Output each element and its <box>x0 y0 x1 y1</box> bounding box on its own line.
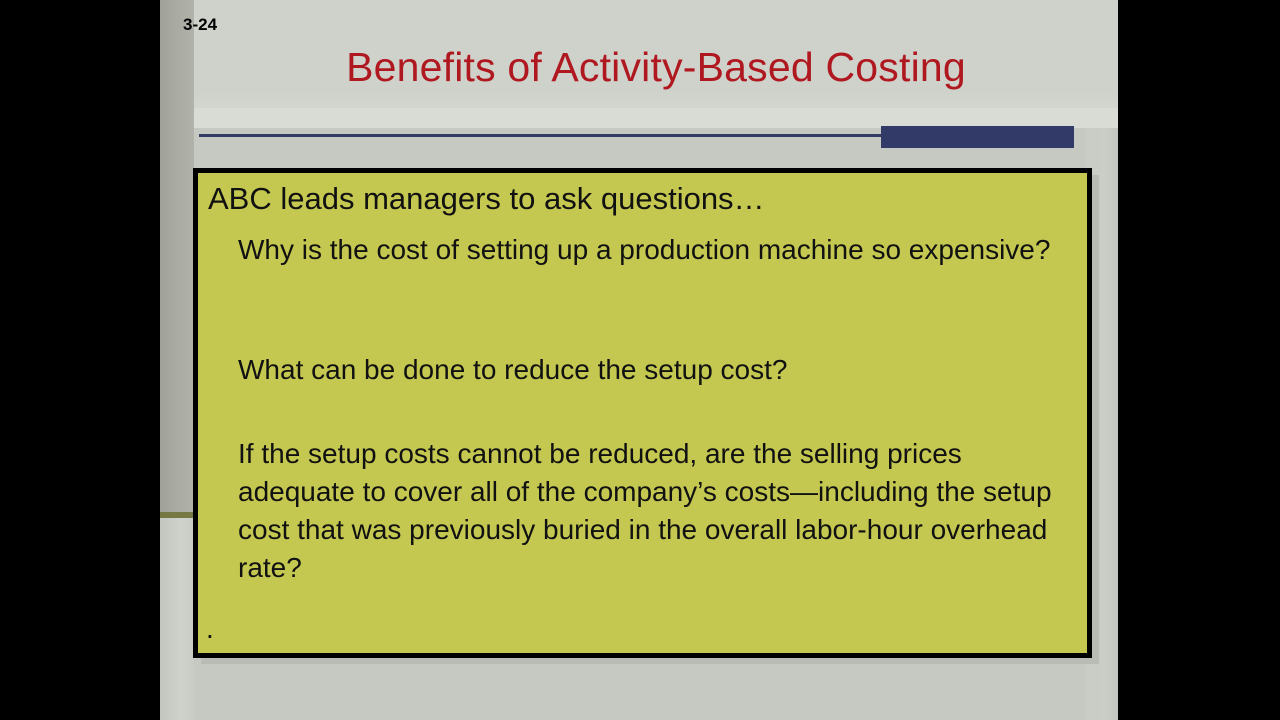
horizontal-rule <box>199 134 883 137</box>
left-gray-band-lower <box>160 518 194 720</box>
slide-stage: 3-24 Benefits of Activity-Based Costing … <box>0 0 1280 720</box>
left-gray-band-upper <box>160 0 194 518</box>
title-band-highlight <box>194 108 1118 128</box>
slide-number: 3-24 <box>183 15 217 35</box>
content-box-inner: ABC leads managers to ask questions… Why… <box>198 173 1087 653</box>
question-paragraph-3: If the setup costs cannot be reduced, ar… <box>238 435 1078 587</box>
content-box: ABC leads managers to ask questions… Why… <box>193 168 1092 658</box>
trailing-period-mark: . <box>206 613 214 645</box>
page-title: Benefits of Activity-Based Costing <box>194 44 1118 91</box>
letterbox-bar-right <box>1118 0 1280 720</box>
letterbox-bar-left <box>0 0 160 720</box>
question-paragraph-2: What can be done to reduce the setup cos… <box>238 351 1078 389</box>
content-box-heading: ABC leads managers to ask questions… <box>208 181 765 217</box>
navy-accent-block <box>881 126 1074 148</box>
question-paragraph-1: Why is the cost of setting up a producti… <box>238 231 1078 269</box>
